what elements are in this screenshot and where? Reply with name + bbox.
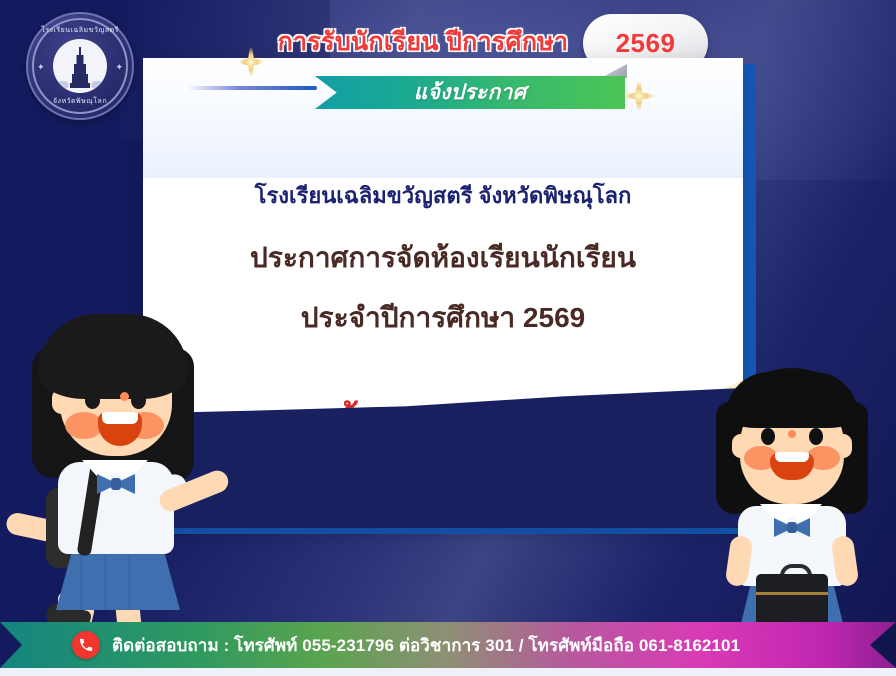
cloud-right-icon bbox=[91, 81, 104, 88]
ribbon-label: แจ้งประกาศ bbox=[414, 76, 527, 109]
school-name: โรงเรียนเฉลิมขวัญสตรี จังหวัดพิษณุโลก bbox=[143, 178, 743, 213]
school-logo-bottom-text: จังหวัดพิษณุโลก bbox=[34, 96, 126, 107]
school-logo-ring: โรงเรียนเฉลิมขวัญสตรี จังหวัดพิษณุโลก ✦ … bbox=[32, 18, 128, 114]
seal-star-right-icon: ✦ bbox=[115, 62, 123, 73]
footer-bottom-strip bbox=[0, 668, 896, 676]
contact-text: ติดต่อสอบถาม : โทรศัพท์ 055-231796 ต่อวิ… bbox=[112, 632, 740, 659]
contact-footer-bar: ติดต่อสอบถาม : โทรศัพท์ 055-231796 ต่อวิ… bbox=[0, 622, 896, 668]
announcement-ribbon: แจ้งประกาศ bbox=[315, 76, 625, 109]
student-illustration-right bbox=[692, 368, 892, 630]
headline-line-1: ประกาศการจัดห้องเรียนนักเรียน bbox=[143, 236, 743, 280]
school-logo: โรงเรียนเฉลิมขวัญสตรี จังหวัดพิษณุโลก ✦ … bbox=[26, 12, 134, 120]
ribbon-accent-line bbox=[187, 86, 317, 90]
seal-star-left-icon: ✦ bbox=[37, 62, 45, 73]
header-title: การรับนักเรียน ปีการศึกษา bbox=[258, 22, 588, 62]
stupa-icon bbox=[70, 48, 90, 88]
card-top-edge bbox=[143, 58, 743, 63]
student-illustration-left bbox=[8, 300, 238, 630]
school-logo-top-text: โรงเรียนเฉลิมขวัญสตรี bbox=[34, 25, 126, 36]
year-badge-label: 2569 bbox=[616, 28, 676, 59]
phone-icon bbox=[72, 631, 100, 659]
school-logo-emblem bbox=[53, 39, 107, 93]
announcement-poster: โรงเรียนเฉลิมขวัญสตรี จังหวัดพิษณุโลก ✦ … bbox=[0, 0, 896, 676]
cloud-left-icon bbox=[56, 81, 69, 88]
